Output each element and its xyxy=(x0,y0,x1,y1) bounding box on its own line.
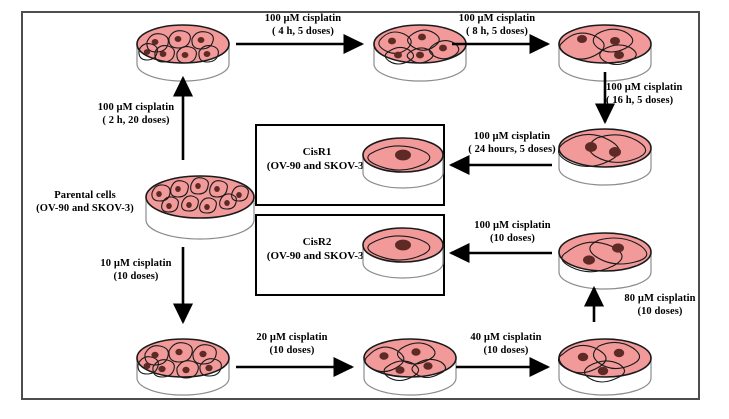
arrow-label-a7: 10 µM cisplatin (10 doses) xyxy=(77,257,195,283)
parental-cells-dish xyxy=(140,163,260,245)
dish-100um-8h-5doses xyxy=(553,12,657,86)
arrow-label-a9: 40 µM cisplatin (10 doses) xyxy=(443,331,569,357)
cisr2-dish xyxy=(358,216,448,284)
dish-10um-10doses xyxy=(131,326,235,400)
arrow-label-a8: 20 µM cisplatin (10 doses) xyxy=(229,331,355,357)
cisr2-label: CisR2 (OV-90 and SKOV-3) xyxy=(262,235,372,263)
dish-100um-2h-20doses xyxy=(131,12,235,86)
petri-dish-glyph xyxy=(131,12,235,86)
parental-cells-label: Parental cells (OV-90 and SKOV-3) xyxy=(22,189,148,215)
cisr1-dish xyxy=(358,126,448,194)
arrow-label-a2: 100 µM cisplatin ( 4 h, 5 doses) xyxy=(233,12,373,38)
arrow-label-a1: 100 µM cisplatin ( 2 h, 20 doses) xyxy=(71,101,201,127)
arrow-label-a10: 80 µM cisplatin (10 doses) xyxy=(600,292,720,318)
figure-canvas: CisR1 (OV-90 and SKOV-3) CisR2 (OV-90 an… xyxy=(0,0,729,419)
arrow-label-a4: 100 µM cisplatin ( 16 h, 5 doses) xyxy=(606,81,724,107)
arrow-label-a6: 100 µM cisplatin (10 doses) xyxy=(445,219,580,245)
arrow-label-a3: 100 µM cisplatin ( 8 h, 5 doses) xyxy=(427,12,567,38)
arrow-label-a5: 100 µM cisplatin ( 24 hours, 5 doses) xyxy=(437,130,587,156)
cisr1-label: CisR1 (OV-90 and SKOV-3) xyxy=(262,145,372,173)
